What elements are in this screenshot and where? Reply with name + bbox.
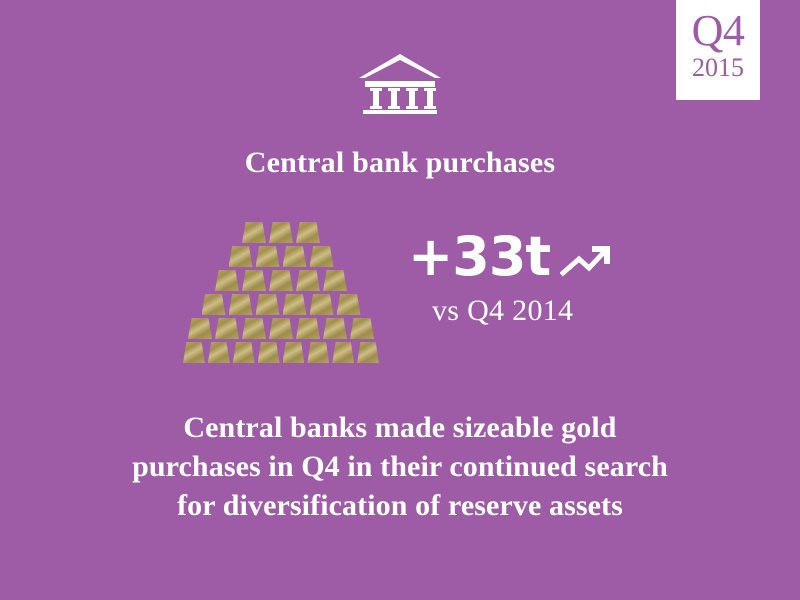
- summary-text: Central banks made sizeable gold purchas…: [0, 408, 800, 525]
- gold-bar: [296, 318, 320, 339]
- stat-comparison-label: vs Q4 2014: [432, 294, 708, 328]
- gold-bar: [229, 246, 253, 267]
- summary-line: for diversification of reserve assets: [0, 486, 800, 525]
- gold-bar: [242, 222, 266, 243]
- gold-bar: [256, 246, 280, 267]
- bar-row: [183, 222, 379, 243]
- gold-bar: [242, 270, 266, 291]
- gold-bar: [296, 222, 320, 243]
- summary-line: purchases in Q4 in their continued searc…: [0, 447, 800, 486]
- gold-bar: [215, 270, 239, 291]
- page-title: Central bank purchases: [0, 146, 800, 180]
- gold-bar: [332, 342, 354, 363]
- bar-row: [183, 246, 379, 267]
- gold-bar: [323, 318, 347, 339]
- gold-bar: [269, 270, 293, 291]
- gold-bar: [215, 318, 239, 339]
- bar-row: [183, 342, 379, 363]
- gold-bar: [296, 270, 320, 291]
- gold-bar: [229, 294, 253, 315]
- bar-row: [183, 318, 379, 339]
- gold-bar: [242, 318, 266, 339]
- gold-bar: [202, 294, 226, 315]
- gold-bar: [269, 222, 293, 243]
- summary-line: Central banks made sizeable gold: [0, 408, 800, 447]
- bank-icon-container: [0, 52, 800, 114]
- gold-bar-pyramid-chart: [183, 222, 379, 366]
- gold-bar: [323, 270, 347, 291]
- gold-bar: [357, 342, 379, 363]
- gold-bar: [283, 246, 307, 267]
- gold-bar: [258, 342, 280, 363]
- gold-bar: [307, 342, 329, 363]
- bar-row: [183, 270, 379, 291]
- gold-bar: [283, 342, 305, 363]
- gold-bar: [350, 318, 374, 339]
- gold-bar: [256, 294, 280, 315]
- gold-bar: [208, 342, 230, 363]
- gold-bar: [310, 246, 334, 267]
- gold-bar: [269, 318, 293, 339]
- bar-row: [183, 294, 379, 315]
- stat-value: +33t: [408, 230, 550, 284]
- gold-bar: [188, 318, 212, 339]
- gold-bar: [233, 342, 255, 363]
- stat-section: +33t vs Q4 2014: [0, 222, 800, 372]
- bank-icon: [357, 52, 443, 114]
- stat-block: +33t vs Q4 2014: [408, 230, 708, 328]
- stat-value-row: +33t: [408, 230, 708, 284]
- quarter-label: Q4: [692, 9, 745, 53]
- infographic-canvas: Q4 2015: [0, 0, 800, 600]
- gold-bar: [310, 294, 334, 315]
- gold-bar: [337, 294, 361, 315]
- gold-bar: [183, 342, 205, 363]
- trend-up-arrow-icon: [560, 241, 614, 284]
- gold-bar: [283, 294, 307, 315]
